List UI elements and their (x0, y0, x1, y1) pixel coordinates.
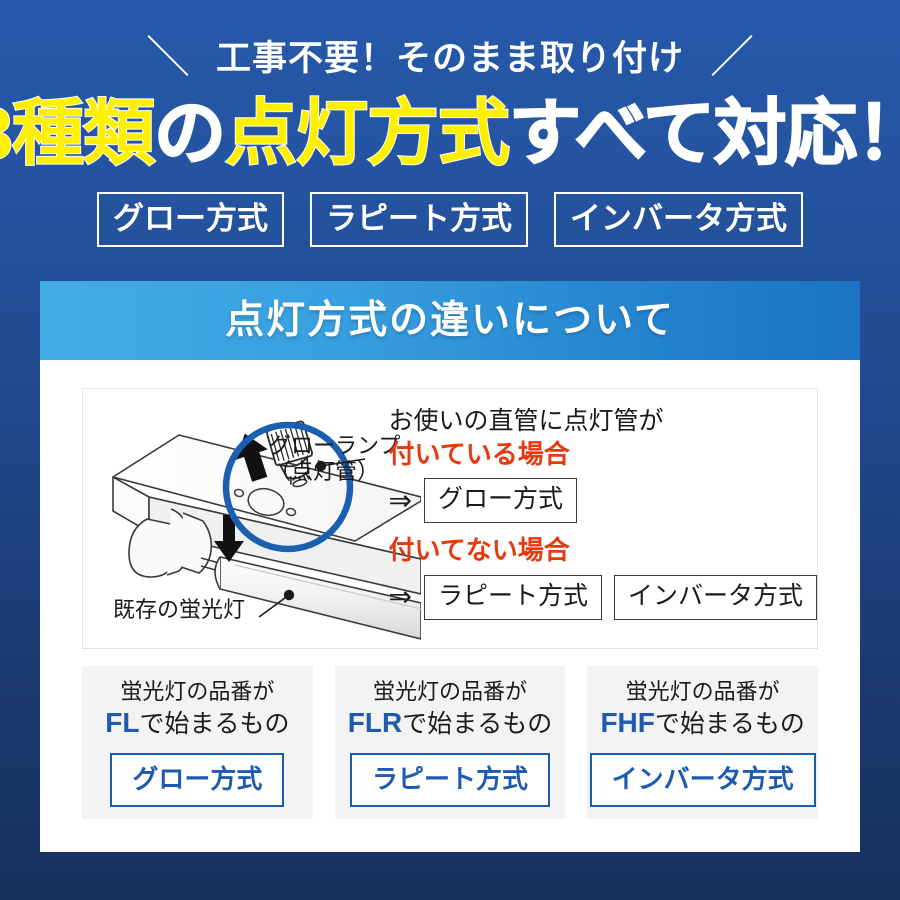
card-inverter: 蛍光灯の品番が FHFで始まるもの インバータ方式 (587, 666, 818, 819)
headline-part-2: の (154, 98, 225, 170)
explain-case1-label: 付いている場合 (389, 439, 818, 471)
card-inverter-code: FHF (600, 707, 654, 738)
card-rapid: 蛍光灯の品番が FLRで始まるもの ラピート方式 (335, 666, 566, 819)
fixture-illustration: グローランプ （点灯管） 既存の蛍光灯 (83, 389, 381, 648)
card-glow-line1: 蛍光灯の品番が (120, 678, 274, 706)
card-inverter-line2: FHFで始まるもの (600, 706, 804, 740)
card-glow: 蛍光灯の品番が FLで始まるもの グロー方式 (82, 666, 313, 819)
chip-rapid: ラピート方式 (310, 192, 528, 247)
headline: 3種類 の 点灯方式 すべて対応！ (0, 92, 900, 176)
diagram-box: グローランプ （点灯管） 既存の蛍光灯 お使いの直管に点灯管が 付いている場合 … (82, 388, 818, 649)
slash-left-icon: ＼ (146, 36, 190, 80)
card-glow-suffix: で始まるもの (139, 710, 289, 738)
panel-title-text: 点灯方式の違いについて (225, 301, 675, 340)
slash-right-icon: ／ (710, 36, 754, 80)
explain-column: お使いの直管に点灯管が 付いている場合 ⇒ グロー方式 付いてない場合 ⇒ ラピ… (381, 389, 818, 648)
method-card-row: 蛍光灯の品番が FLで始まるもの グロー方式 蛍光灯の品番が FLRで始まるもの… (82, 666, 818, 819)
existing-tube-label: 既存の蛍光灯 (113, 599, 245, 621)
card-rapid-line1: 蛍光灯の品番が (373, 678, 527, 706)
card-glow-code: FL (105, 707, 139, 738)
card-rapid-button[interactable]: ラピート方式 (350, 753, 550, 807)
result-box-glow: グロー方式 (424, 478, 577, 523)
card-glow-line2: FLで始まるもの (105, 706, 289, 740)
card-rapid-suffix: で始まるもの (402, 710, 552, 738)
tagline-row: ＼ 工事不要！そのまま取り付け ／ (0, 32, 900, 84)
card-inverter-suffix: で始まるもの (655, 710, 805, 738)
card-rapid-code: FLR (348, 707, 402, 738)
card-inverter-button[interactable]: インバータ方式 (590, 753, 816, 807)
explain-case1-row: ⇒ グロー方式 (389, 478, 818, 523)
hero-section: ＼ 工事不要！そのまま取り付け ／ 3種類 の 点灯方式 すべて対応！ グロー方… (0, 0, 900, 260)
result-box-rapid: ラピート方式 (424, 575, 602, 620)
explain-case2-row: ⇒ ラピート方式 インバータ方式 (389, 575, 818, 620)
card-inverter-line1: 蛍光灯の品番が (626, 678, 780, 706)
panel-title-bar: 点灯方式の違いについて (40, 281, 860, 360)
explain-case2-label: 付いてない場合 (389, 535, 818, 567)
method-chip-row: グロー方式 ラピート方式 インバータ方式 (0, 192, 900, 247)
explain-intro: お使いの直管に点灯管が (389, 407, 818, 437)
card-glow-button[interactable]: グロー方式 (110, 753, 284, 807)
headline-part-4: すべて対応！ (509, 98, 900, 170)
result-box-inverter: インバータ方式 (614, 575, 817, 620)
info-panel: 点灯方式の違いについて (40, 281, 860, 852)
arrow-right-icon-2: ⇒ (389, 583, 412, 611)
tagline-text: 工事不要！そのまま取り付け (216, 41, 684, 76)
infographic-page: ＼ 工事不要！そのまま取り付け ／ 3種類 の 点灯方式 すべて対応！ グロー方… (0, 0, 900, 900)
headline-part-3: 点灯方式 (225, 98, 509, 170)
headline-part-1: 3種類 (0, 98, 154, 170)
panel-body: グローランプ （点灯管） 既存の蛍光灯 お使いの直管に点灯管が 付いている場合 … (40, 360, 860, 819)
arrow-right-icon-1: ⇒ (389, 487, 412, 515)
chip-inverter: インバータ方式 (554, 192, 803, 247)
card-rapid-line2: FLRで始まるもの (348, 706, 552, 740)
chip-glow: グロー方式 (97, 192, 284, 247)
